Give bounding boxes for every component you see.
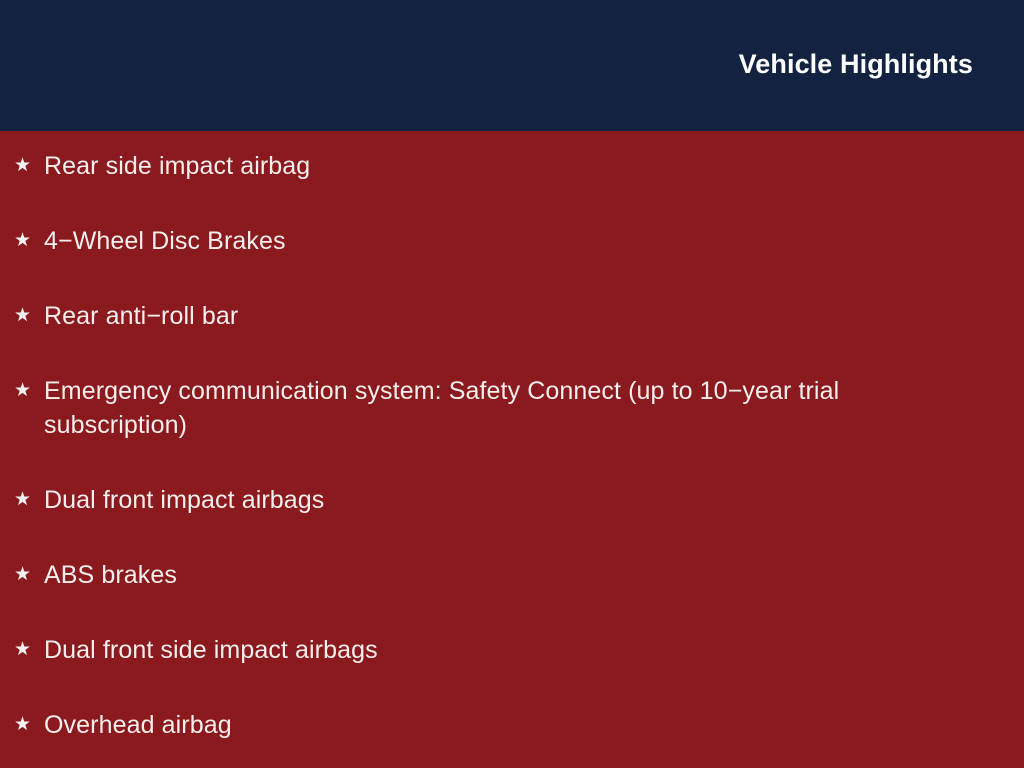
vehicle-highlights-slide: Vehicle Highlights ★ Rear side impact ai… [0,0,1024,768]
list-item: ★ Rear side impact airbag [0,149,1024,183]
star-bullet-icon: ★ [14,299,44,333]
list-item: ★ Dual front side impact airbags [0,633,1024,667]
star-bullet-icon: ★ [14,149,44,183]
star-bullet-icon: ★ [14,483,44,517]
vehicle-feature-list: ★ Rear side impact airbag ★ 4−Wheel Disc… [0,149,1024,742]
list-item-label: Emergency communication system: Safety C… [44,374,964,442]
list-item: ★ Dual front impact airbags [0,483,1024,517]
list-item-label: Rear side impact airbag [44,149,964,183]
list-item: ★ 4−Wheel Disc Brakes [0,224,1024,258]
slide-header: Vehicle Highlights [0,0,1024,131]
star-bullet-icon: ★ [14,224,44,258]
list-item-label: ABS brakes [44,558,964,592]
star-bullet-icon: ★ [14,708,44,742]
page-title: Vehicle Highlights [739,51,973,78]
star-bullet-icon: ★ [14,558,44,592]
list-item: ★ ABS brakes [0,558,1024,592]
list-item-label: Dual front impact airbags [44,483,964,517]
list-item-label: Overhead airbag [44,708,964,742]
list-item-label: Dual front side impact airbags [44,633,964,667]
list-item-label: Rear anti−roll bar [44,299,964,333]
list-item: ★ Rear anti−roll bar [0,299,1024,333]
list-item: ★ Emergency communication system: Safety… [0,374,1024,442]
star-bullet-icon: ★ [14,633,44,667]
list-item-label: 4−Wheel Disc Brakes [44,224,964,258]
list-item: ★ Overhead airbag [0,708,1024,742]
slide-body: ★ Rear side impact airbag ★ 4−Wheel Disc… [0,131,1024,768]
star-bullet-icon: ★ [14,374,44,408]
